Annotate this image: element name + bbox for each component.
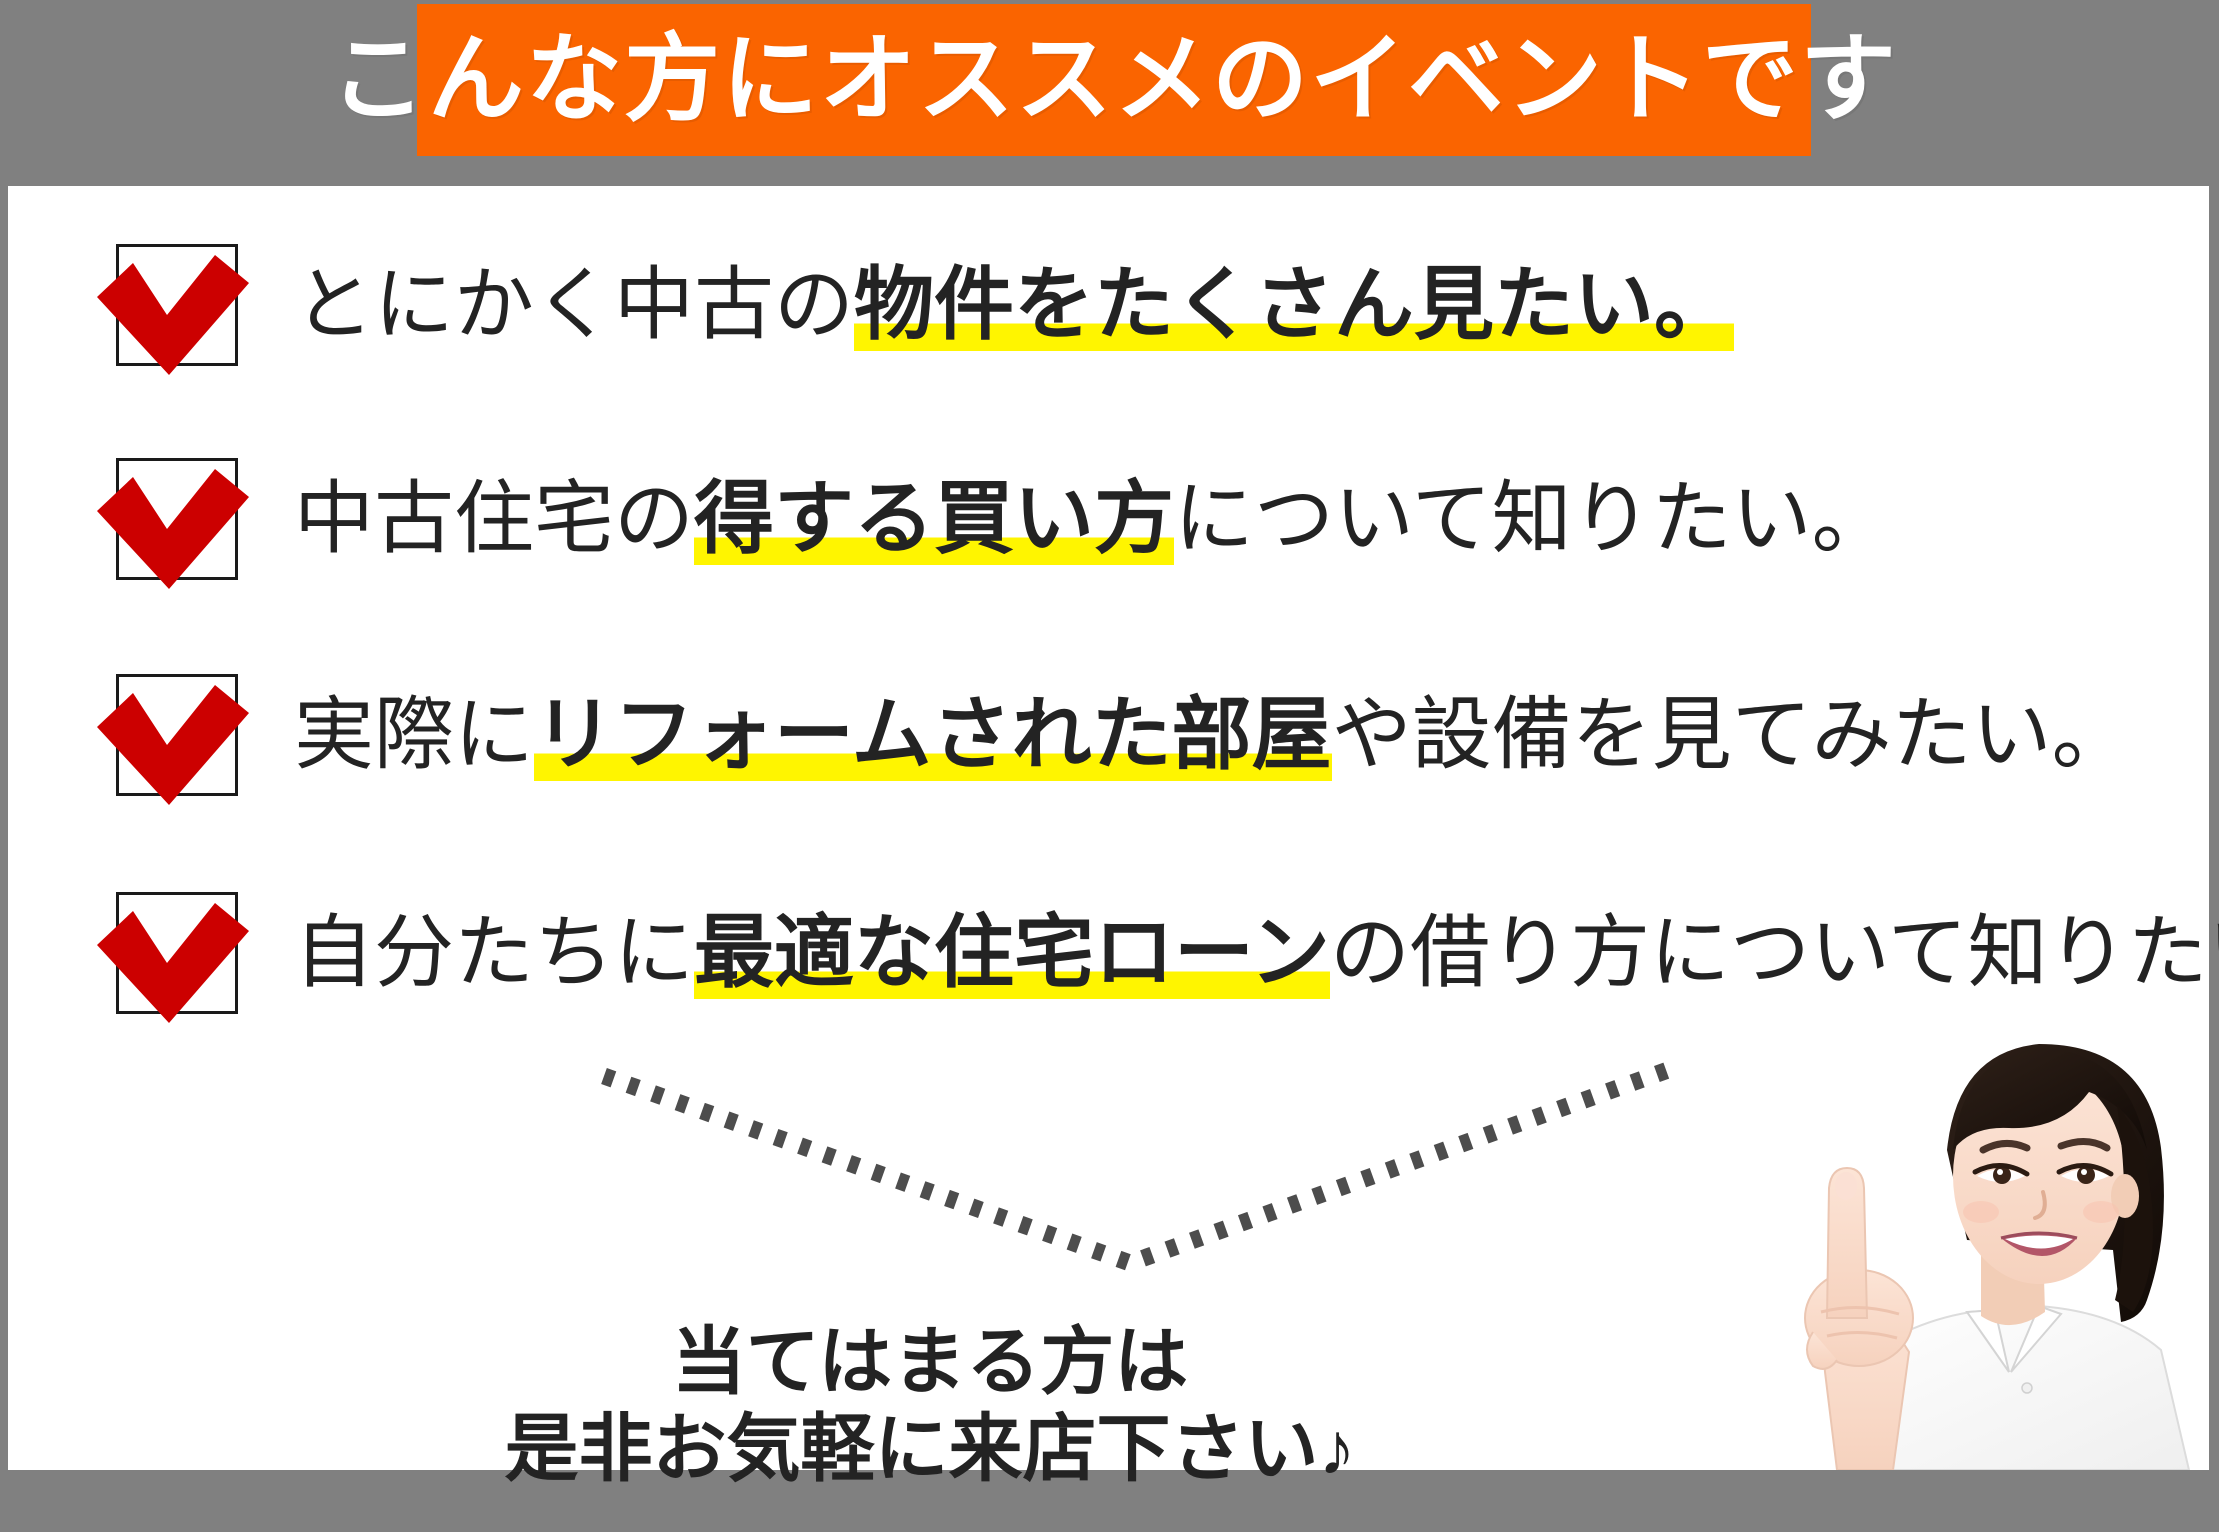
check-mark-icon (91, 683, 255, 815)
list-item-text-highlight: 最適な住宅ローン (694, 908, 1330, 999)
check-mark-icon (91, 253, 255, 385)
checkbox-3[interactable] (116, 674, 238, 796)
list-item-text: 実際にリフォームされた部屋や設備を見てみたい。 (294, 695, 2132, 775)
check-mark-icon (91, 901, 255, 1033)
list-item[interactable]: 自分たちに最適な住宅ローンの借り方について知りたい。 (116, 892, 2219, 1014)
cta-line-2: 是非お気軽に来店下さい♪ (0, 1405, 1860, 1492)
header-banner: こんな方にオススメのイベントです (417, 4, 1811, 156)
list-item-text-highlight: リフォームされた部屋 (534, 690, 1332, 781)
check-mark-icon (91, 467, 255, 599)
page-title: こんな方にオススメのイベントです (330, 32, 1898, 128)
list-item-text-plain-before: とにかく中古の (294, 260, 854, 349)
list-item-text: 自分たちに最適な住宅ローンの借り方について知りたい。 (294, 913, 2219, 993)
promo-poster: こんな方にオススメのイベントです とにかく中古の物件をたくさん見たい。 中古住宅… (0, 0, 2219, 1532)
list-item[interactable]: とにかく中古の物件をたくさん見たい。 (116, 244, 1734, 366)
list-item-text-plain-after: の借り方について知りたい。 (1330, 908, 2219, 997)
cta-block: 当てはまる方は 是非お気軽に来店下さい♪ (0, 1318, 1860, 1493)
checkbox-4[interactable] (116, 892, 238, 1014)
list-item-text-plain-before: 中古住宅の (294, 474, 694, 563)
checkbox-1[interactable] (116, 244, 238, 366)
list-item[interactable]: 実際にリフォームされた部屋や設備を見てみたい。 (116, 674, 2132, 796)
frame-right-bar (2209, 186, 2219, 1532)
list-item-text-plain-before: 自分たちに (294, 908, 694, 997)
list-item-text-highlight: 物件をたくさん見たい。 (854, 260, 1734, 351)
list-item[interactable]: 中古住宅の得する買い方について知りたい。 (116, 458, 1892, 580)
list-item-text: 中古住宅の得する買い方について知りたい。 (294, 479, 1892, 559)
cta-line-1: 当てはまる方は (0, 1318, 1860, 1405)
list-item-text-plain-after: について知りたい。 (1174, 474, 1892, 563)
checkbox-2[interactable] (116, 458, 238, 580)
dotted-chevron-down-icon (590, 1058, 1690, 1278)
list-item-text-highlight: 得する買い方 (694, 474, 1174, 565)
list-item-text-plain-after: や設備を見てみたい。 (1332, 690, 2132, 779)
list-item-text: とにかく中古の物件をたくさん見たい。 (294, 265, 1734, 345)
list-item-text-plain-before: 実際に (294, 690, 534, 779)
